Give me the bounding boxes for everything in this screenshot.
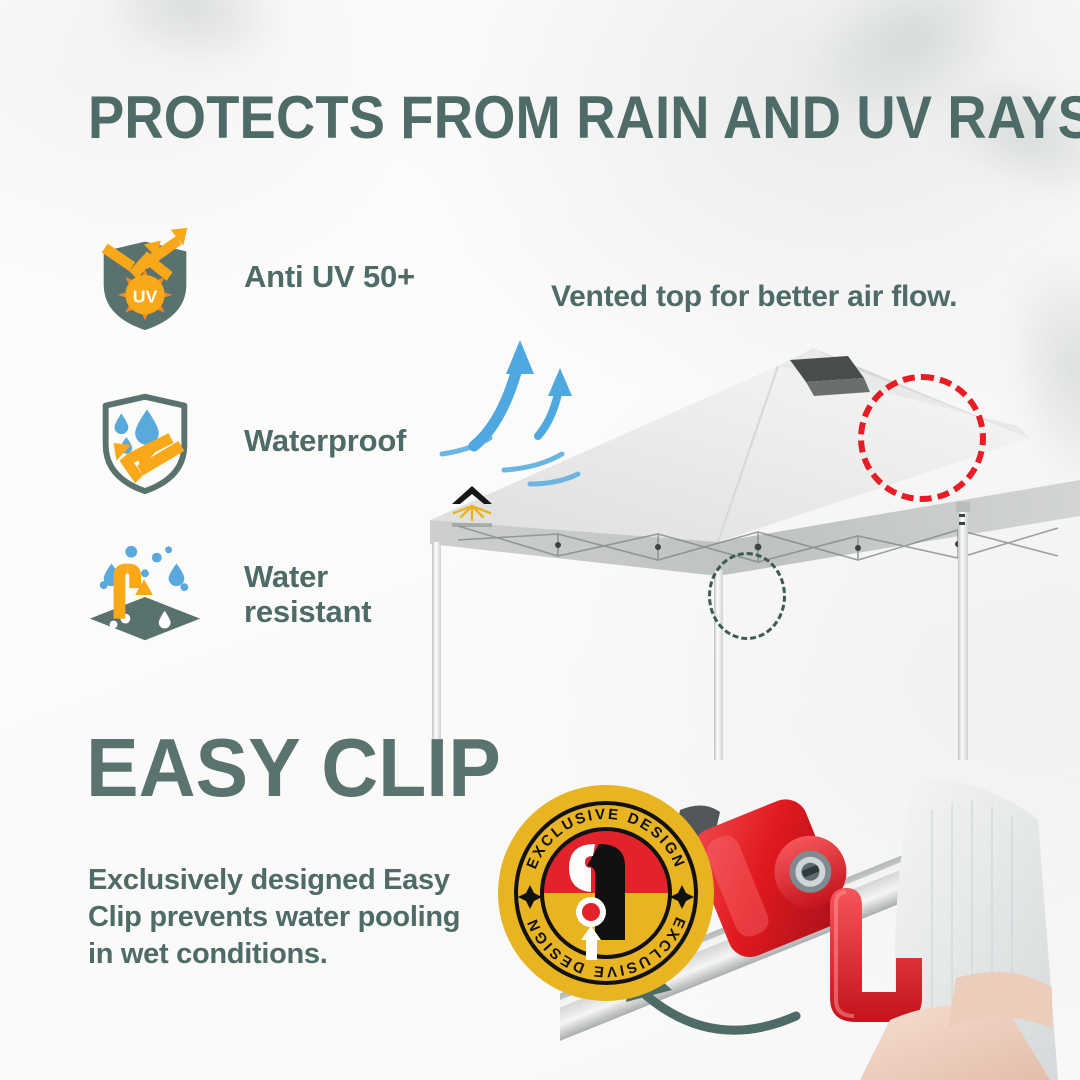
vented-top-caption: Vented top for better air flow. (551, 280, 957, 314)
feature-row-water-resistant: Water resistant (86, 536, 371, 654)
blue-airflow-arrows (434, 318, 654, 498)
exclusive-design-seal: EXCLUSIVE DESIGN EXCLUSIVE DESIGN (495, 782, 717, 1004)
easy-clip-description: Exclusively designed Easy Clip prevents … (88, 862, 488, 972)
feature-row-waterproof: Waterproof (86, 382, 406, 500)
infographic-canvas: PROTECTS FROM RAIN AND UV RAYS UV (0, 0, 1080, 1080)
uv-badge-label: UV (133, 287, 158, 307)
feature-label-line-1: Water (244, 560, 371, 595)
canopy-tent-photo (418, 330, 1080, 760)
feature-label-water-resistant: Water resistant (244, 560, 371, 629)
easy-clip-title: EASY CLIP (86, 726, 501, 809)
waterproof-shield-icon (86, 382, 204, 500)
green-dashed-ellipse (708, 552, 786, 640)
feature-label-line-2: resistant (244, 595, 371, 630)
feature-row-anti-uv: UV Anti UV 50+ (86, 218, 415, 336)
feature-label-anti-uv: Anti UV 50+ (244, 260, 415, 295)
water-resistant-fabric-icon (86, 536, 204, 654)
uv-shield-icon: UV (86, 218, 204, 336)
red-dashed-circle (858, 374, 986, 502)
feature-label-waterproof: Waterproof (244, 424, 406, 459)
page-title: PROTECTS FROM RAIN AND UV RAYS (88, 88, 939, 148)
